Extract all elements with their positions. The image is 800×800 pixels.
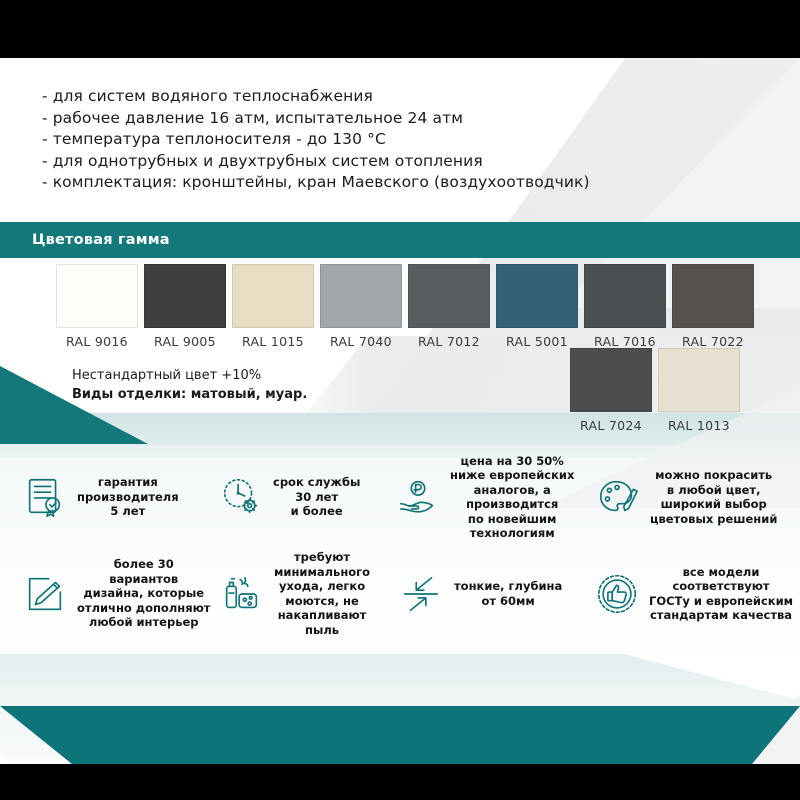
spec-line: - для однотрубных и двухтрубных систем о… [42,151,622,173]
color-swatch[interactable]: RAL 9005 [144,264,226,349]
color-chip[interactable] [56,264,138,328]
color-chip-label: RAL 7016 [584,334,666,349]
hand-ruble-icon [395,474,441,520]
quality-badge-icon [594,571,640,617]
features-grid: гарантияпроизводителя5 лет срок службы30… [0,448,800,641]
color-swatch[interactable]: RAL 9016 [56,264,138,349]
feature-item: можно покраситьв любой цвет,широкий выбо… [595,448,785,546]
features-row-2: более 30вариантовдизайна, которыеотлично… [0,546,800,641]
spec-line: - температура теплоносителя - до 130 °C [42,129,622,151]
features-row-1: гарантияпроизводителя5 лет срок службы30… [0,448,800,546]
feature-item: срок службы30 лети более [218,448,393,546]
feature-item: более 30вариантовдизайна, которыеотлично… [22,546,217,641]
color-chip-label: RAL 7024 [570,418,652,433]
color-swatch[interactable]: RAL 5001 [496,264,578,349]
color-swatch[interactable]: RAL 7040 [320,264,402,349]
color-chip[interactable] [320,264,402,328]
depth-arrows-icon [399,571,445,617]
letterbox-top [0,0,800,58]
color-chip-label: RAL 7022 [672,334,754,349]
feature-label: более 30вариантовдизайна, которыеотлично… [77,557,210,630]
color-chip-label: RAL 1015 [232,334,314,349]
color-chip[interactable] [584,264,666,328]
color-chip-label: RAL 7040 [320,334,402,349]
color-swatch[interactable]: RAL 7024 [570,348,652,433]
feature-item: гарантияпроизводителя5 лет [22,448,212,546]
spray-sponge-icon [219,571,265,617]
specifications-list: - для систем водяного теплоснабжения - р… [42,86,622,194]
color-swatch[interactable]: RAL 1015 [232,264,314,349]
color-chip-label: RAL 7012 [408,334,490,349]
spec-line: - для систем водяного теплоснабжения [42,86,622,108]
color-chip[interactable] [570,348,652,412]
color-chip-label: RAL 9016 [56,334,138,349]
feature-label: требуютминимальногоухода, легкомоются, н… [274,550,370,637]
feature-label: срок службы30 лети более [273,475,360,519]
color-chip[interactable] [232,264,314,328]
color-swatch[interactable]: RAL 7016 [584,264,666,349]
color-swatch[interactable]: RAL 1013 [658,348,740,433]
color-chip-label: RAL 5001 [496,334,578,349]
color-chip-label: RAL 9005 [144,334,226,349]
color-chip[interactable] [496,264,578,328]
feature-item: цена на 30 50%ниже европейскиханалогов, … [395,448,595,546]
color-chip[interactable] [658,348,740,412]
slide-canvas: - для систем водяного теплоснабжения - р… [0,58,800,764]
decor-teal-band-bottom [0,706,800,764]
certificate-icon [22,474,68,520]
color-gamma-header: Цветовая гамма [0,222,800,258]
color-swatch[interactable]: RAL 7012 [408,264,490,349]
color-swatch-row-secondary: RAL 7024RAL 1013 [570,348,740,433]
color-chip[interactable] [408,264,490,328]
finish-notes: Нестандартный цвет +10% Виды отделки: ма… [72,366,307,404]
feature-label: можно покраситьв любой цвет,широкий выбо… [650,468,777,526]
feature-label: тонкие, глубинаот 60мм [454,579,562,608]
pencil-design-icon [22,571,68,617]
note-custom-color: Нестандартный цвет +10% [72,366,307,385]
spec-line: - рабочее давление 16 атм, испытательное… [42,108,622,130]
spec-line: - комплектация: кронштейны, кран Маевско… [42,172,622,194]
feature-item: тонкие, глубинаот 60мм [399,546,594,641]
color-chip[interactable] [144,264,226,328]
letterbox-bottom [0,764,800,800]
note-finish-types: Виды отделки: матовый, муар. [72,385,307,404]
palette-brush-icon [595,474,641,520]
feature-label: все моделисоответствуютГОСТу и европейск… [649,565,793,623]
color-swatch[interactable]: RAL 7022 [672,264,754,349]
feature-item: требуютминимальногоухода, легкомоются, н… [219,546,389,641]
color-gamma-title: Цветовая гамма [32,232,170,248]
color-swatch-row-primary: RAL 9016RAL 9005RAL 1015RAL 7040RAL 7012… [56,264,754,349]
clock-gear-icon [218,474,264,520]
color-chip-label: RAL 1013 [658,418,740,433]
feature-item: все моделисоответствуютГОСТу и европейск… [594,546,794,641]
color-chip[interactable] [672,264,754,328]
feature-label: цена на 30 50%ниже европейскиханалогов, … [450,454,574,541]
feature-label: гарантияпроизводителя5 лет [77,475,179,519]
